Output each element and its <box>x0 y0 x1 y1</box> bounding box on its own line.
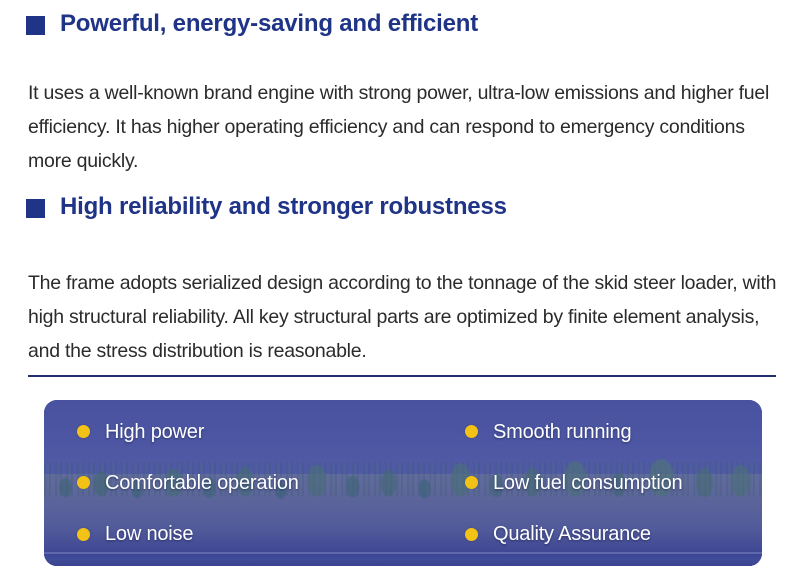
feature-item: Quality Assurance <box>443 509 762 560</box>
dot-bullet-icon <box>465 425 478 438</box>
square-bullet-icon <box>26 199 45 218</box>
dot-bullet-icon <box>465 528 478 541</box>
feature-label: Smooth running <box>493 420 631 444</box>
section-divider <box>28 375 776 377</box>
section-body-1: It uses a well-known brand engine with s… <box>28 76 780 178</box>
feature-label: Low fuel consumption <box>493 471 682 495</box>
dot-bullet-icon <box>465 476 478 489</box>
section-body-2: The frame adopts serialized design accor… <box>28 266 780 368</box>
dot-bullet-icon <box>77 476 90 489</box>
feature-item: High power <box>44 406 443 457</box>
feature-item: Comfortable operation <box>44 457 443 508</box>
content-page: Powerful, energy-saving and efficient It… <box>0 0 800 585</box>
feature-label: Comfortable operation <box>105 471 299 495</box>
feature-item: Smooth running <box>443 406 762 457</box>
feature-item: Low fuel consumption <box>443 457 762 508</box>
section-heading-1-label: Powerful, energy-saving and efficient <box>60 10 478 38</box>
section-heading-2-label: High reliability and stronger robustness <box>60 193 507 221</box>
section-heading-1: Powerful, energy-saving and efficient <box>26 10 478 38</box>
dot-bullet-icon <box>77 528 90 541</box>
feature-label: High power <box>105 420 204 444</box>
feature-list: High power Smooth running Comfortable op… <box>44 400 762 566</box>
feature-label: Low noise <box>105 522 193 546</box>
section-heading-2: High reliability and stronger robustness <box>26 193 507 221</box>
feature-item: Low noise <box>44 509 443 560</box>
feature-highlights-panel: High power Smooth running Comfortable op… <box>44 400 762 566</box>
dot-bullet-icon <box>77 425 90 438</box>
feature-label: Quality Assurance <box>493 522 651 546</box>
square-bullet-icon <box>26 16 45 35</box>
